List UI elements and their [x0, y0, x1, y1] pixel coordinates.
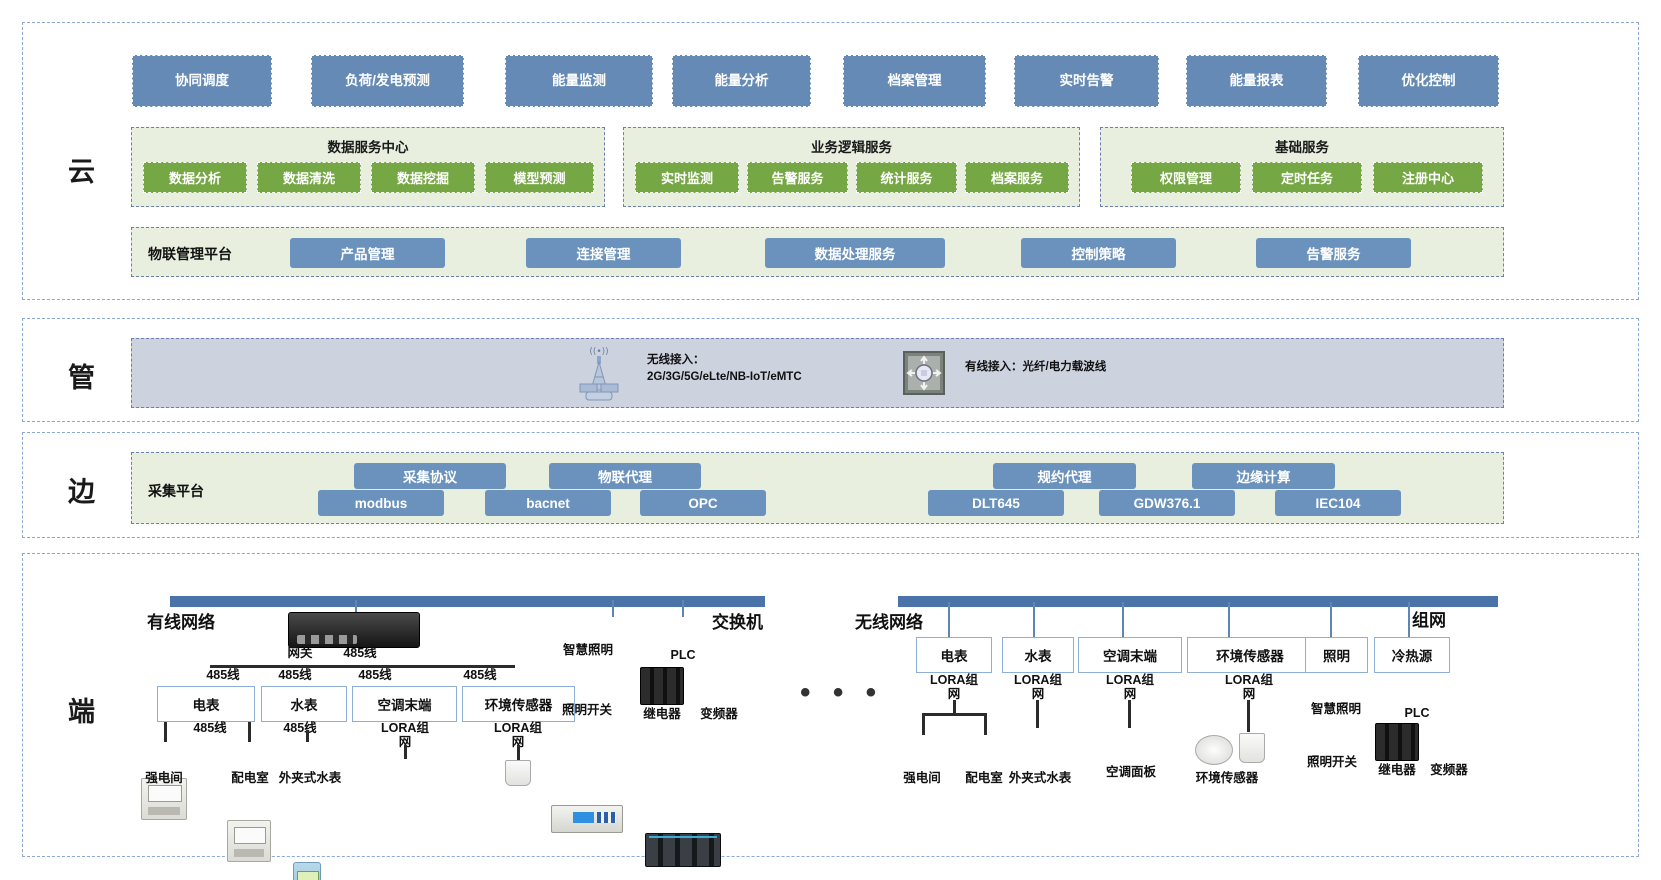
drop-line — [248, 722, 251, 742]
endpoint-caption: 环境传感器 — [1180, 771, 1274, 785]
plc-icon — [645, 833, 721, 867]
group-title: 数据服务中心 — [132, 136, 604, 156]
endpoint-caption: 强电间 — [890, 771, 954, 785]
group-title: 业务逻辑服务 — [624, 136, 1079, 156]
fanout-line — [922, 713, 986, 716]
collection-platform-label: 采集平台 — [148, 481, 204, 501]
service-box[interactable]: 注册中心 — [1373, 162, 1483, 193]
lora-label: LORA组网 — [1103, 674, 1157, 702]
branch-link-label: 485线 — [450, 669, 510, 683]
gateway-label: 网关 — [278, 647, 322, 661]
architecture-diagram: 云 协同调度 负荷/发电预测 能量监测 能量分析 档案管理 实时告警 能量报表 … — [0, 0, 1661, 880]
wired-branch-box-meter[interactable]: 电表 — [157, 686, 255, 722]
wireless-drop-line — [1330, 602, 1332, 637]
app-box[interactable]: 优化控制 — [1358, 55, 1499, 107]
wireless-branch-box-env-sensor[interactable]: 环境传感器 — [1187, 637, 1313, 673]
wireless-branch-box-hvac[interactable]: 空调末端 — [1078, 637, 1182, 673]
drop-line — [404, 745, 407, 759]
wireless-branch-box-heat-source[interactable]: 冷热源 — [1374, 637, 1450, 673]
lora-label: LORA组网 — [927, 674, 981, 702]
app-box[interactable]: 负荷/发电预测 — [311, 55, 464, 107]
wireless-branch-box-meter[interactable]: 电表 — [916, 637, 992, 673]
collection-platform-panel: 采集平台 采集协议 物联代理 规约代理 边缘计算 modbus bacnet O… — [131, 452, 1504, 524]
edge-layer-label: 边 — [52, 470, 112, 509]
edge-proto-impl-box[interactable]: IEC104 — [1275, 490, 1401, 516]
environment-sensor-icon — [505, 760, 531, 786]
wired-access-title: 有线接入：光纤/电力载波线 — [965, 359, 1155, 376]
iot-item[interactable]: 连接管理 — [526, 238, 681, 268]
edge-protocol-box[interactable]: 边缘计算 — [1192, 463, 1335, 489]
branch-link-label: 485线 — [345, 669, 405, 683]
svg-text:((•)): ((•)) — [589, 347, 608, 357]
iot-management-platform: 物联管理平台 产品管理 连接管理 数据处理服务 控制策略 告警服务 — [131, 227, 1504, 277]
app-box[interactable]: 能量报表 — [1186, 55, 1327, 107]
branch-sublink-label: 485线 — [180, 722, 240, 736]
device-layer-label: 端 — [52, 690, 112, 729]
service-box[interactable]: 数据清洗 — [257, 162, 361, 193]
wireless-branch-box-water[interactable]: 水表 — [1002, 637, 1074, 673]
service-box[interactable]: 统计服务 — [856, 162, 957, 193]
branch-link-label: 485线 — [265, 669, 325, 683]
pipe-layer-label: 管 — [52, 356, 112, 395]
smart-lighting-drop-line — [612, 600, 614, 617]
iot-item[interactable]: 产品管理 — [290, 238, 445, 268]
service-box[interactable]: 告警服务 — [747, 162, 848, 193]
service-group-business-logic: 业务逻辑服务 实时监测 告警服务 统计服务 档案服务 — [623, 127, 1080, 207]
pipe-band: ((•)) 无线接入： 2G/3G/5G/eLte/NB-IoT/eMTC 有线… — [131, 338, 1504, 408]
smoke-sensor-icon — [1195, 735, 1233, 765]
edge-protocol-box[interactable]: 物联代理 — [549, 463, 701, 489]
wireless-access-title: 无线接入： — [647, 352, 837, 369]
endpoint-caption: 空调面板 — [1095, 765, 1167, 779]
wireless-drop-line — [1122, 602, 1124, 637]
lora-label: LORA组网 — [1011, 674, 1065, 702]
service-box[interactable]: 权限管理 — [1131, 162, 1241, 193]
wired-network-title: 有线网络 — [147, 608, 215, 633]
wireless-drop-line — [1033, 602, 1035, 637]
drop-line — [1036, 700, 1039, 728]
endpoint-caption: 照明开关 — [1295, 755, 1369, 769]
branch-link-label: 485线 — [193, 669, 253, 683]
service-group-basic: 基础服务 权限管理 定时任务 注册中心 — [1100, 127, 1504, 207]
drop-line — [1247, 700, 1250, 732]
app-box[interactable]: 实时告警 — [1014, 55, 1159, 107]
service-box[interactable]: 模型预测 — [485, 162, 594, 193]
wireless-drop-line — [948, 602, 950, 637]
wireless-drop-line — [1228, 602, 1230, 637]
app-box[interactable]: 协同调度 — [132, 55, 272, 107]
app-box[interactable]: 能量监测 — [505, 55, 653, 107]
endpoint-caption: 外夹式水表 — [270, 771, 350, 785]
smart-lighting-icon — [551, 805, 623, 833]
relay-icon — [640, 667, 684, 705]
section-separator: • • • — [800, 676, 883, 710]
service-box[interactable]: 数据挖掘 — [371, 162, 475, 193]
wired-access-text: 有线接入：光纤/电力载波线 — [965, 359, 1155, 376]
edge-proto-impl-box[interactable]: bacnet — [485, 490, 611, 516]
bus-device-caption: 智慧照明 — [551, 643, 625, 657]
iot-item[interactable]: 数据处理服务 — [765, 238, 945, 268]
drop-line — [517, 745, 520, 761]
endpoint-caption: 变频器 — [1417, 763, 1481, 777]
service-box[interactable]: 定时任务 — [1252, 162, 1362, 193]
iot-platform-label: 物联管理平台 — [148, 244, 232, 264]
wireless-tower-icon: ((•)) — [572, 344, 626, 404]
wired-network-icon — [902, 351, 948, 397]
wireless-access-text: 无线接入： 2G/3G/5G/eLte/NB-IoT/eMTC — [647, 352, 837, 387]
drop-line — [922, 713, 925, 735]
service-box[interactable]: 数据分析 — [143, 162, 247, 193]
endpoint-caption: 强电间 — [132, 771, 196, 785]
wired-bus-bar — [170, 596, 765, 607]
edge-proto-impl-box[interactable]: DLT645 — [928, 490, 1064, 516]
bus-subdevice-caption: 变频器 — [687, 707, 751, 721]
edge-proto-impl-box[interactable]: GDW376.1 — [1099, 490, 1235, 516]
wireless-branch-box-lighting[interactable]: 照明 — [1305, 637, 1368, 673]
edge-protocol-box[interactable]: 规约代理 — [993, 463, 1136, 489]
iot-item[interactable]: 控制策略 — [1021, 238, 1176, 268]
cloud-layer-label: 云 — [52, 150, 112, 189]
wireless-network-title: 无线网络 — [855, 608, 923, 633]
electric-meter-icon — [227, 820, 271, 862]
environment-sensor-icon — [1239, 733, 1265, 763]
app-box[interactable]: 能量分析 — [672, 55, 811, 107]
drop-line — [1128, 700, 1131, 728]
drop-line — [306, 730, 309, 742]
relay-icon — [1375, 723, 1419, 761]
branch-sublink-label: 485线 — [270, 722, 330, 736]
endpoint-caption: PLC — [1386, 706, 1448, 720]
wired-branch-box-water[interactable]: 水表 — [261, 686, 347, 722]
wired-bus-right-label: 交换机 — [712, 608, 763, 633]
lora-label: LORA组网 — [1222, 674, 1276, 702]
app-box[interactable]: 档案管理 — [843, 55, 986, 107]
drop-line — [953, 700, 956, 714]
water-meter-icon — [293, 862, 321, 880]
edge-proto-impl-box[interactable]: modbus — [318, 490, 444, 516]
endpoint-caption: 智慧照明 — [1299, 702, 1373, 716]
bus-subdevice-caption: 照明开关 — [550, 703, 624, 717]
gateway-icon — [288, 612, 420, 648]
endpoint-caption: 外夹式水表 — [1000, 771, 1080, 785]
service-group-data-center: 数据服务中心 数据分析 数据清洗 数据挖掘 模型预测 — [131, 127, 605, 207]
wireless-access-detail: 2G/3G/5G/eLte/NB-IoT/eMTC — [647, 369, 837, 386]
wireless-bus-right-label: 组网 — [1412, 606, 1446, 631]
wireless-drop-line — [1408, 602, 1410, 637]
plc-drop-line — [682, 600, 684, 617]
iot-item[interactable]: 告警服务 — [1256, 238, 1411, 268]
drop-line — [164, 722, 167, 742]
edge-protocol-box[interactable]: 采集协议 — [354, 463, 506, 489]
gateway-link-label: 485线 — [330, 647, 390, 661]
wired-branch-box-hvac[interactable]: 空调末端 — [352, 686, 457, 722]
group-title: 基础服务 — [1101, 136, 1503, 156]
drop-line — [984, 713, 987, 735]
service-box[interactable]: 实时监测 — [635, 162, 739, 193]
bus-device-caption: PLC — [650, 648, 716, 662]
edge-proto-impl-box[interactable]: OPC — [640, 490, 766, 516]
service-box[interactable]: 档案服务 — [965, 162, 1069, 193]
bus-subdevice-caption: 继电器 — [630, 707, 694, 721]
